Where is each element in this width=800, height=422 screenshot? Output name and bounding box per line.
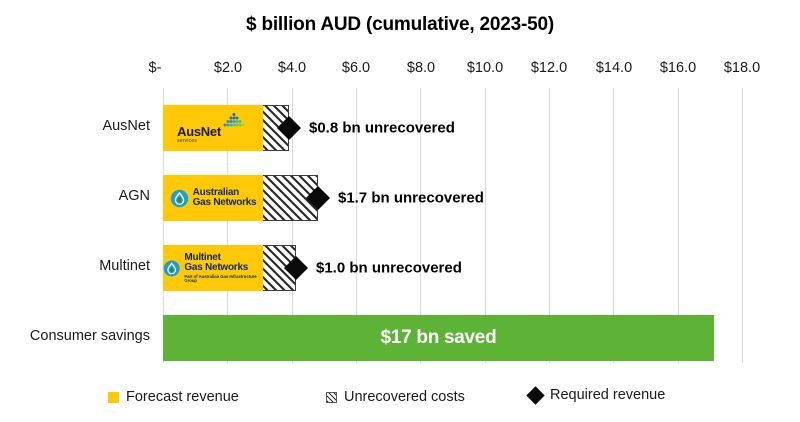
yellow-square-icon	[108, 392, 119, 403]
gridline	[742, 88, 743, 363]
annotation-agn: $1.7 bn unrecovered	[338, 190, 484, 207]
category-label-agn: AGN	[0, 188, 150, 204]
legend-label-unrecovered-costs: Unrecovered costs	[344, 389, 465, 405]
bar-forecast-multinet	[163, 245, 263, 291]
legend-item-unrecovered-costs: Unrecovered costs	[326, 389, 465, 405]
legend-label-required-revenue: Required revenue	[550, 387, 665, 403]
hatched-square-icon	[326, 392, 337, 403]
annotation-ausnet: $0.8 bn unrecovered	[309, 120, 455, 137]
x-tick-label: $14.0	[596, 60, 632, 76]
bar-forecast-agn	[163, 175, 263, 221]
annotation-consumer-savings: $17 bn saved	[163, 315, 714, 361]
bar-forecast-ausnet	[163, 105, 263, 151]
x-tick-label: $-	[149, 60, 162, 76]
legend-item-forecast-revenue: Forecast revenue	[108, 389, 239, 405]
chart-legend: Forecast revenue Unrecovered costs Requi…	[0, 385, 800, 415]
bar-consumer-savings: $17 bn saved	[163, 315, 714, 361]
x-axis-tick-labels: $- $2.0 $4.0 $6.0 $8.0 $10.0 $12.0 $14.0…	[0, 60, 800, 80]
category-label-ausnet: AusNet	[0, 118, 150, 134]
x-tick-label: $12.0	[531, 60, 567, 76]
x-tick-label: $8.0	[407, 60, 435, 76]
x-tick-label: $2.0	[214, 60, 242, 76]
legend-item-required-revenue: Required revenue	[528, 387, 665, 403]
annotation-multinet: $1.0 bn unrecovered	[316, 260, 462, 277]
chart-title: $ billion AUD (cumulative, 2023-50)	[0, 14, 800, 36]
x-tick-label: $4.0	[278, 60, 306, 76]
x-tick-label: $10.0	[467, 60, 503, 76]
category-label-consumer-savings: Consumer savings	[0, 328, 150, 344]
x-tick-label: $18.0	[724, 60, 760, 76]
category-label-multinet: Multinet	[0, 258, 150, 274]
x-tick-label: $6.0	[342, 60, 370, 76]
legend-label-forecast-revenue: Forecast revenue	[126, 389, 239, 405]
bar-chart: $ billion AUD (cumulative, 2023-50) $- $…	[0, 0, 800, 422]
black-diamond-icon	[528, 388, 543, 403]
x-tick-label: $16.0	[660, 60, 696, 76]
plot-area: AusNet	[163, 88, 742, 363]
